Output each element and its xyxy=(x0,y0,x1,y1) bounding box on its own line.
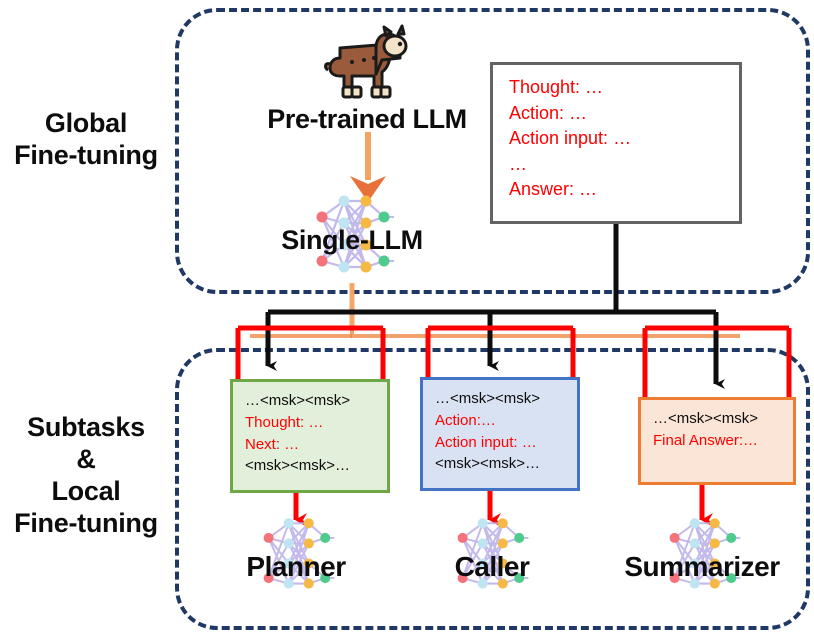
planner-role-label: Planner xyxy=(186,551,406,583)
planner-subtask-box: …<msk><msk> Thought: … Next: … <msk><msk… xyxy=(230,379,390,493)
llama-icon xyxy=(322,24,414,102)
caller-line: Action:… xyxy=(435,410,577,432)
react-line: … xyxy=(509,152,739,178)
react-line: Answer: … xyxy=(509,177,739,203)
pre-trained-llm-label: Pre-trained LLM xyxy=(232,104,502,135)
planner-line: Next: … xyxy=(245,434,387,456)
subtasks-local-finetuning-label: Subtasks & Local Fine-tuning xyxy=(0,412,172,539)
subtasks-label-line-3: Local xyxy=(0,476,172,508)
summarizer-subtask-box: …<msk><msk> Final Answer:… xyxy=(638,397,796,485)
subtasks-label-line-2: & xyxy=(0,444,172,476)
caller-line: …<msk><msk> xyxy=(435,388,577,410)
planner-line: <msk><msk>… xyxy=(245,455,387,477)
summarizer-line: Final Answer:… xyxy=(653,430,793,452)
caller-role-label: Caller xyxy=(382,551,602,583)
react-line: Action: … xyxy=(509,101,739,127)
caller-subtask-box: …<msk><msk> Action:… Action input: … <ms… xyxy=(420,377,580,491)
summarizer-role-label: Summarizer xyxy=(578,551,814,583)
caller-line: Action input: … xyxy=(435,432,577,454)
single-llm-label: Single-LLM xyxy=(226,225,478,256)
global-finetuning-label: Global Fine-tuning xyxy=(0,108,172,172)
subtasks-label-line-4: Fine-tuning xyxy=(0,508,172,540)
planner-line: Thought: … xyxy=(245,412,387,434)
planner-line: …<msk><msk> xyxy=(245,390,387,412)
global-label-line-2: Fine-tuning xyxy=(0,140,172,172)
figure-canvas: Global Fine-tuning Subtasks & Local Fine… xyxy=(0,0,814,642)
global-label-line-1: Global xyxy=(0,108,172,140)
subtasks-label-line-1: Subtasks xyxy=(0,412,172,444)
caller-line: <msk><msk>… xyxy=(435,453,577,475)
react-trace-box: Thought: … Action: … Action input: … … A… xyxy=(490,62,742,224)
react-line: Thought: … xyxy=(509,75,739,101)
react-line: Action input: … xyxy=(509,126,739,152)
summarizer-line: …<msk><msk> xyxy=(653,408,793,430)
